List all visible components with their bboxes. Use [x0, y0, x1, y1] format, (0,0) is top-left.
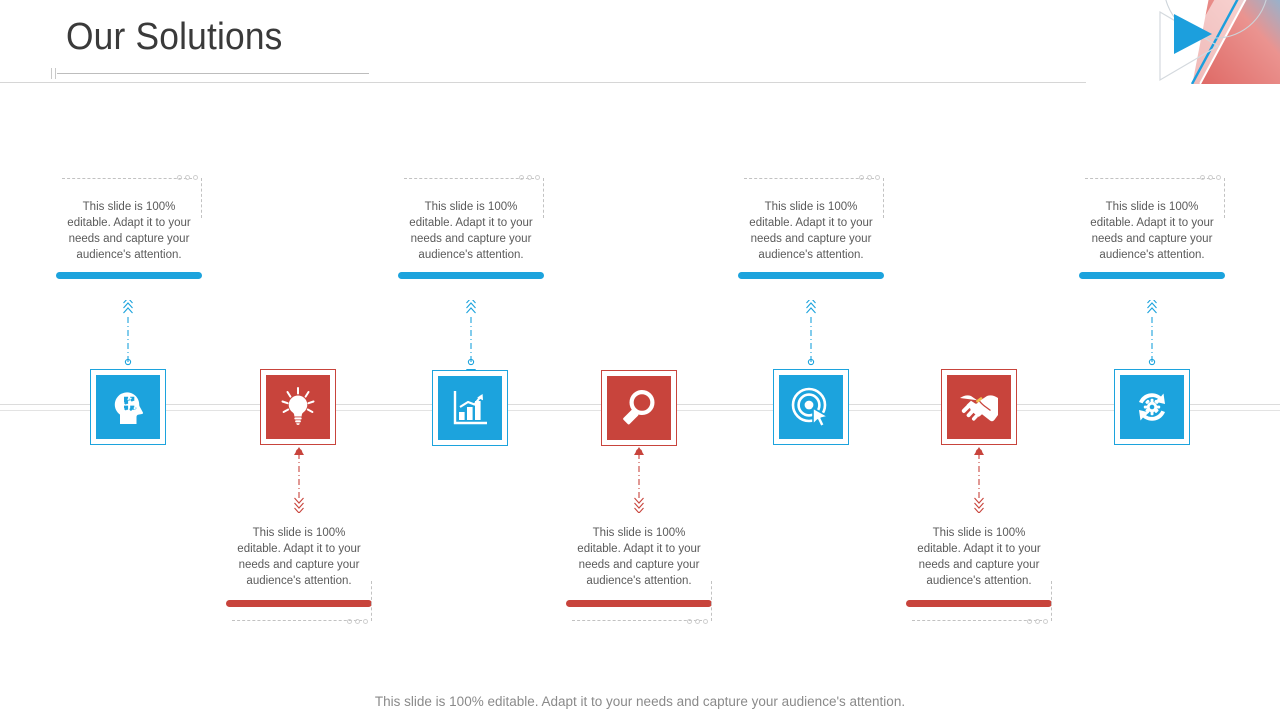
card-3[interactable]: This slide is 100% editable. Adapt it to… — [398, 178, 544, 279]
card-accent-bar — [566, 600, 712, 607]
card-5[interactable]: This slide is 100% editable. Adapt it to… — [738, 178, 884, 279]
header-rule-short — [57, 73, 369, 74]
lightbulb-icon — [266, 375, 330, 439]
card-dash-right — [201, 178, 202, 218]
handshake-icon — [947, 375, 1011, 439]
card-dash-right — [883, 178, 884, 218]
card-dash-right — [371, 581, 372, 621]
connector-down-2 — [292, 447, 306, 513]
header-tick-1 — [51, 68, 52, 79]
card-2[interactable]: This slide is 100% editable. Adapt it to… — [226, 525, 372, 621]
icon-box-4[interactable] — [601, 370, 677, 446]
header-tick-2 — [55, 68, 56, 79]
card-text: This slide is 100% editable. Adapt it to… — [56, 178, 202, 263]
card-corner-dots — [1027, 619, 1048, 624]
connector-up-1 — [121, 300, 135, 366]
bar-chart-growth-icon — [438, 376, 502, 440]
magnifier-icon — [607, 376, 671, 440]
icon-box-6[interactable] — [941, 369, 1017, 445]
card-text: This slide is 100% editable. Adapt it to… — [906, 525, 1052, 589]
card-dash-top — [744, 178, 874, 179]
card-accent-bar — [226, 600, 372, 607]
page-title: Our Solutions — [66, 16, 283, 59]
icon-box-2[interactable] — [260, 369, 336, 445]
head-puzzle-icon — [96, 375, 160, 439]
card-dash-right — [1051, 581, 1052, 621]
card-accent-bar — [398, 272, 544, 279]
card-accent-bar — [56, 272, 202, 279]
card-dash-top — [1085, 178, 1215, 179]
connector-down-4 — [632, 447, 646, 513]
card-4[interactable]: This slide is 100% editable. Adapt it to… — [566, 525, 712, 621]
card-accent-bar — [1079, 272, 1225, 279]
connector-up-5 — [804, 300, 818, 366]
card-accent-bar — [738, 272, 884, 279]
footer-note: This slide is 100% editable. Adapt it to… — [0, 694, 1280, 709]
card-dash-bottom — [912, 620, 1042, 621]
card-text: This slide is 100% editable. Adapt it to… — [1079, 178, 1225, 263]
connector-down-6 — [972, 447, 986, 513]
card-dash-top — [62, 178, 192, 179]
card-corner-dots — [177, 175, 198, 180]
refresh-gear-icon — [1120, 375, 1184, 439]
card-dash-right — [543, 178, 544, 218]
icon-box-5[interactable] — [773, 369, 849, 445]
slide-canvas: Our Solutions — [0, 0, 1280, 720]
card-text: This slide is 100% editable. Adapt it to… — [738, 178, 884, 263]
card-dash-bottom — [232, 620, 362, 621]
card-text: This slide is 100% editable. Adapt it to… — [566, 525, 712, 589]
card-6[interactable]: This slide is 100% editable. Adapt it to… — [906, 525, 1052, 621]
card-corner-dots — [687, 619, 708, 624]
card-dash-right — [711, 581, 712, 621]
icon-box-7[interactable] — [1114, 369, 1190, 445]
card-accent-bar — [906, 600, 1052, 607]
card-7[interactable]: This slide is 100% editable. Adapt it to… — [1079, 178, 1225, 279]
connector-up-3 — [464, 300, 478, 366]
card-text: This slide is 100% editable. Adapt it to… — [226, 525, 372, 589]
card-corner-dots — [347, 619, 368, 624]
target-cursor-icon — [779, 375, 843, 439]
icon-box-1[interactable] — [90, 369, 166, 445]
card-text: This slide is 100% editable. Adapt it to… — [398, 178, 544, 263]
card-corner-dots — [519, 175, 540, 180]
card-corner-dots — [1200, 175, 1221, 180]
card-dash-right — [1224, 178, 1225, 218]
connector-up-7 — [1145, 300, 1159, 366]
icon-box-3[interactable] — [432, 370, 508, 446]
header-rule-long — [0, 82, 1086, 83]
card-corner-dots — [859, 175, 880, 180]
card-dash-bottom — [572, 620, 702, 621]
corner-triangle-graphic — [1130, 0, 1280, 84]
card-dash-top — [404, 178, 534, 179]
card-1[interactable]: This slide is 100% editable. Adapt it to… — [56, 178, 202, 279]
